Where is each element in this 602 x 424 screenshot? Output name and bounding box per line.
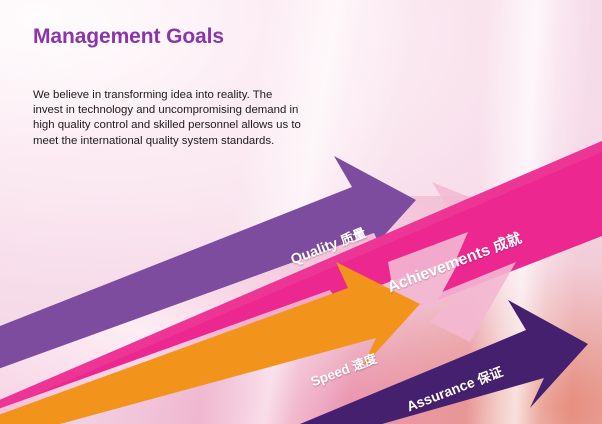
slide-canvas: Management Goals We believe in transform… xyxy=(0,0,602,424)
page-title: Management Goals xyxy=(33,25,224,49)
arrow-graphics xyxy=(0,0,602,424)
body-paragraph: We believe in transforming idea into rea… xyxy=(33,88,303,149)
